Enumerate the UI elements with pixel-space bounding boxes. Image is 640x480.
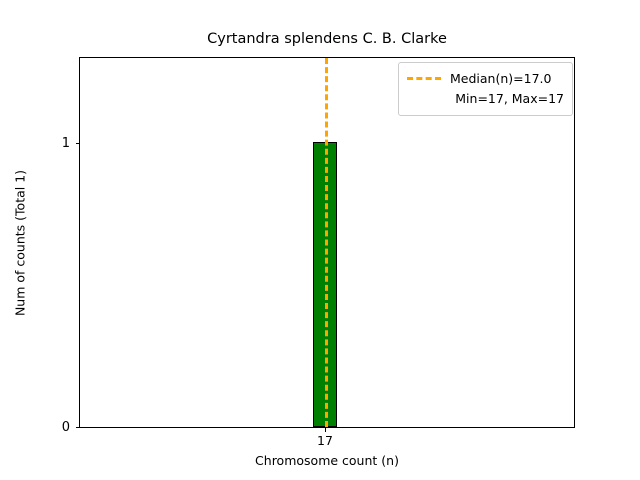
chart-title: Cyrtandra splendens C. B. Clarke bbox=[79, 30, 575, 48]
median-line bbox=[325, 58, 328, 427]
y-axis-label-container: Num of counts (Total 1) bbox=[0, 57, 40, 428]
figure-canvas: Cyrtandra splendens C. B. Clarke Num of … bbox=[0, 0, 640, 480]
y-tick-label-1: 1 bbox=[44, 137, 70, 150]
chart-legend: Median(n)=17.0 Min=17, Max=17 bbox=[398, 62, 573, 116]
y-axis-label: Num of counts (Total 1) bbox=[13, 169, 28, 315]
legend-label-median: Median(n)=17.0 bbox=[450, 71, 551, 86]
legend-label-range: Min=17, Max=17 bbox=[455, 91, 564, 106]
legend-entry-median: Median(n)=17.0 bbox=[407, 69, 564, 88]
legend-entry-range: Min=17, Max=17 bbox=[407, 88, 564, 108]
y-tick-label-0: 0 bbox=[44, 421, 70, 434]
x-tick-mark-17 bbox=[325, 428, 326, 432]
x-tick-label-17: 17 bbox=[305, 434, 345, 448]
dashed-line-icon bbox=[407, 72, 441, 85]
x-axis-label: Chromosome count (n) bbox=[79, 453, 575, 468]
